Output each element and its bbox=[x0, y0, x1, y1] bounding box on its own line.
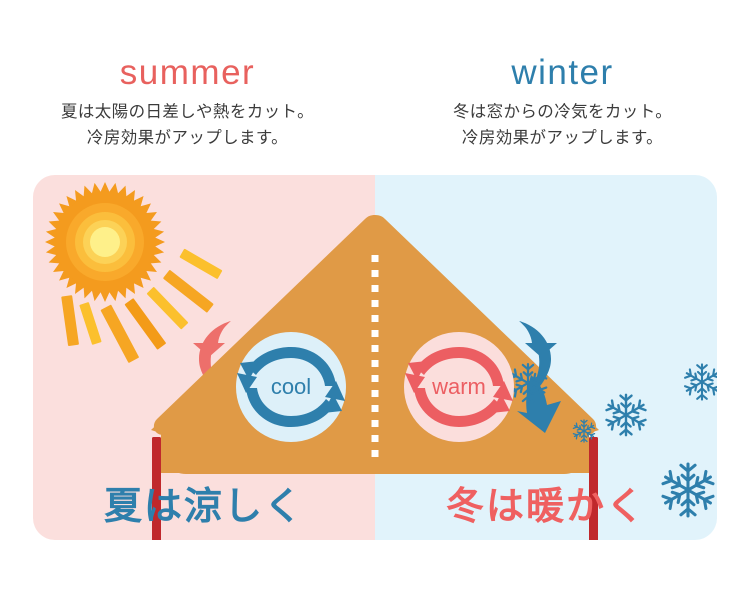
winter-subtitle-line1: 冬は窓からの冷気をカット。 bbox=[453, 103, 672, 121]
warm-badge: warm bbox=[404, 332, 514, 442]
illustration-panel: cool warm 夏は涼しく 冬は暖かく bbox=[33, 175, 717, 540]
snowflake-icon bbox=[685, 364, 717, 399]
summer-caption: 夏は涼しく bbox=[33, 488, 375, 526]
summer-subtitle: 夏は太陽の日差しや熱をカット。 冷房効果がアップします。 bbox=[0, 90, 375, 151]
winter-subtitle-line2: 冷房効果がアップします。 bbox=[462, 129, 663, 147]
cool-badge-label: cool bbox=[271, 374, 311, 399]
summer-heading-block: summer 夏は太陽の日差しや熱をカット。 冷房効果がアップします。 bbox=[0, 0, 375, 175]
winter-heading-block: winter 冬は窓からの冷気をカット。 冷房効果がアップします。 bbox=[375, 0, 750, 175]
house-wall-final bbox=[161, 427, 589, 472]
sun-core bbox=[90, 227, 120, 257]
summer-subtitle-line2: 冷房効果がアップします。 bbox=[87, 129, 288, 147]
winter-title: winter bbox=[375, 0, 750, 90]
summer-title: summer bbox=[0, 0, 375, 90]
winter-caption: 冬は暖かく bbox=[375, 488, 717, 526]
summer-subtitle-line1: 夏は太陽の日差しや熱をカット。 bbox=[61, 103, 314, 121]
snowflake-icon bbox=[607, 395, 646, 435]
cool-badge: cool bbox=[236, 332, 346, 442]
winter-subtitle: 冬は窓からの冷気をカット。 冷房効果がアップします。 bbox=[375, 90, 750, 151]
illustration-root: summer 夏は太陽の日差しや熱をカット。 冷房効果がアップします。 wint… bbox=[0, 0, 750, 596]
headings-area: summer 夏は太陽の日差しや熱をカット。 冷房効果がアップします。 wint… bbox=[0, 0, 750, 175]
warm-badge-label: warm bbox=[431, 374, 486, 399]
sun-icon bbox=[45, 182, 222, 363]
